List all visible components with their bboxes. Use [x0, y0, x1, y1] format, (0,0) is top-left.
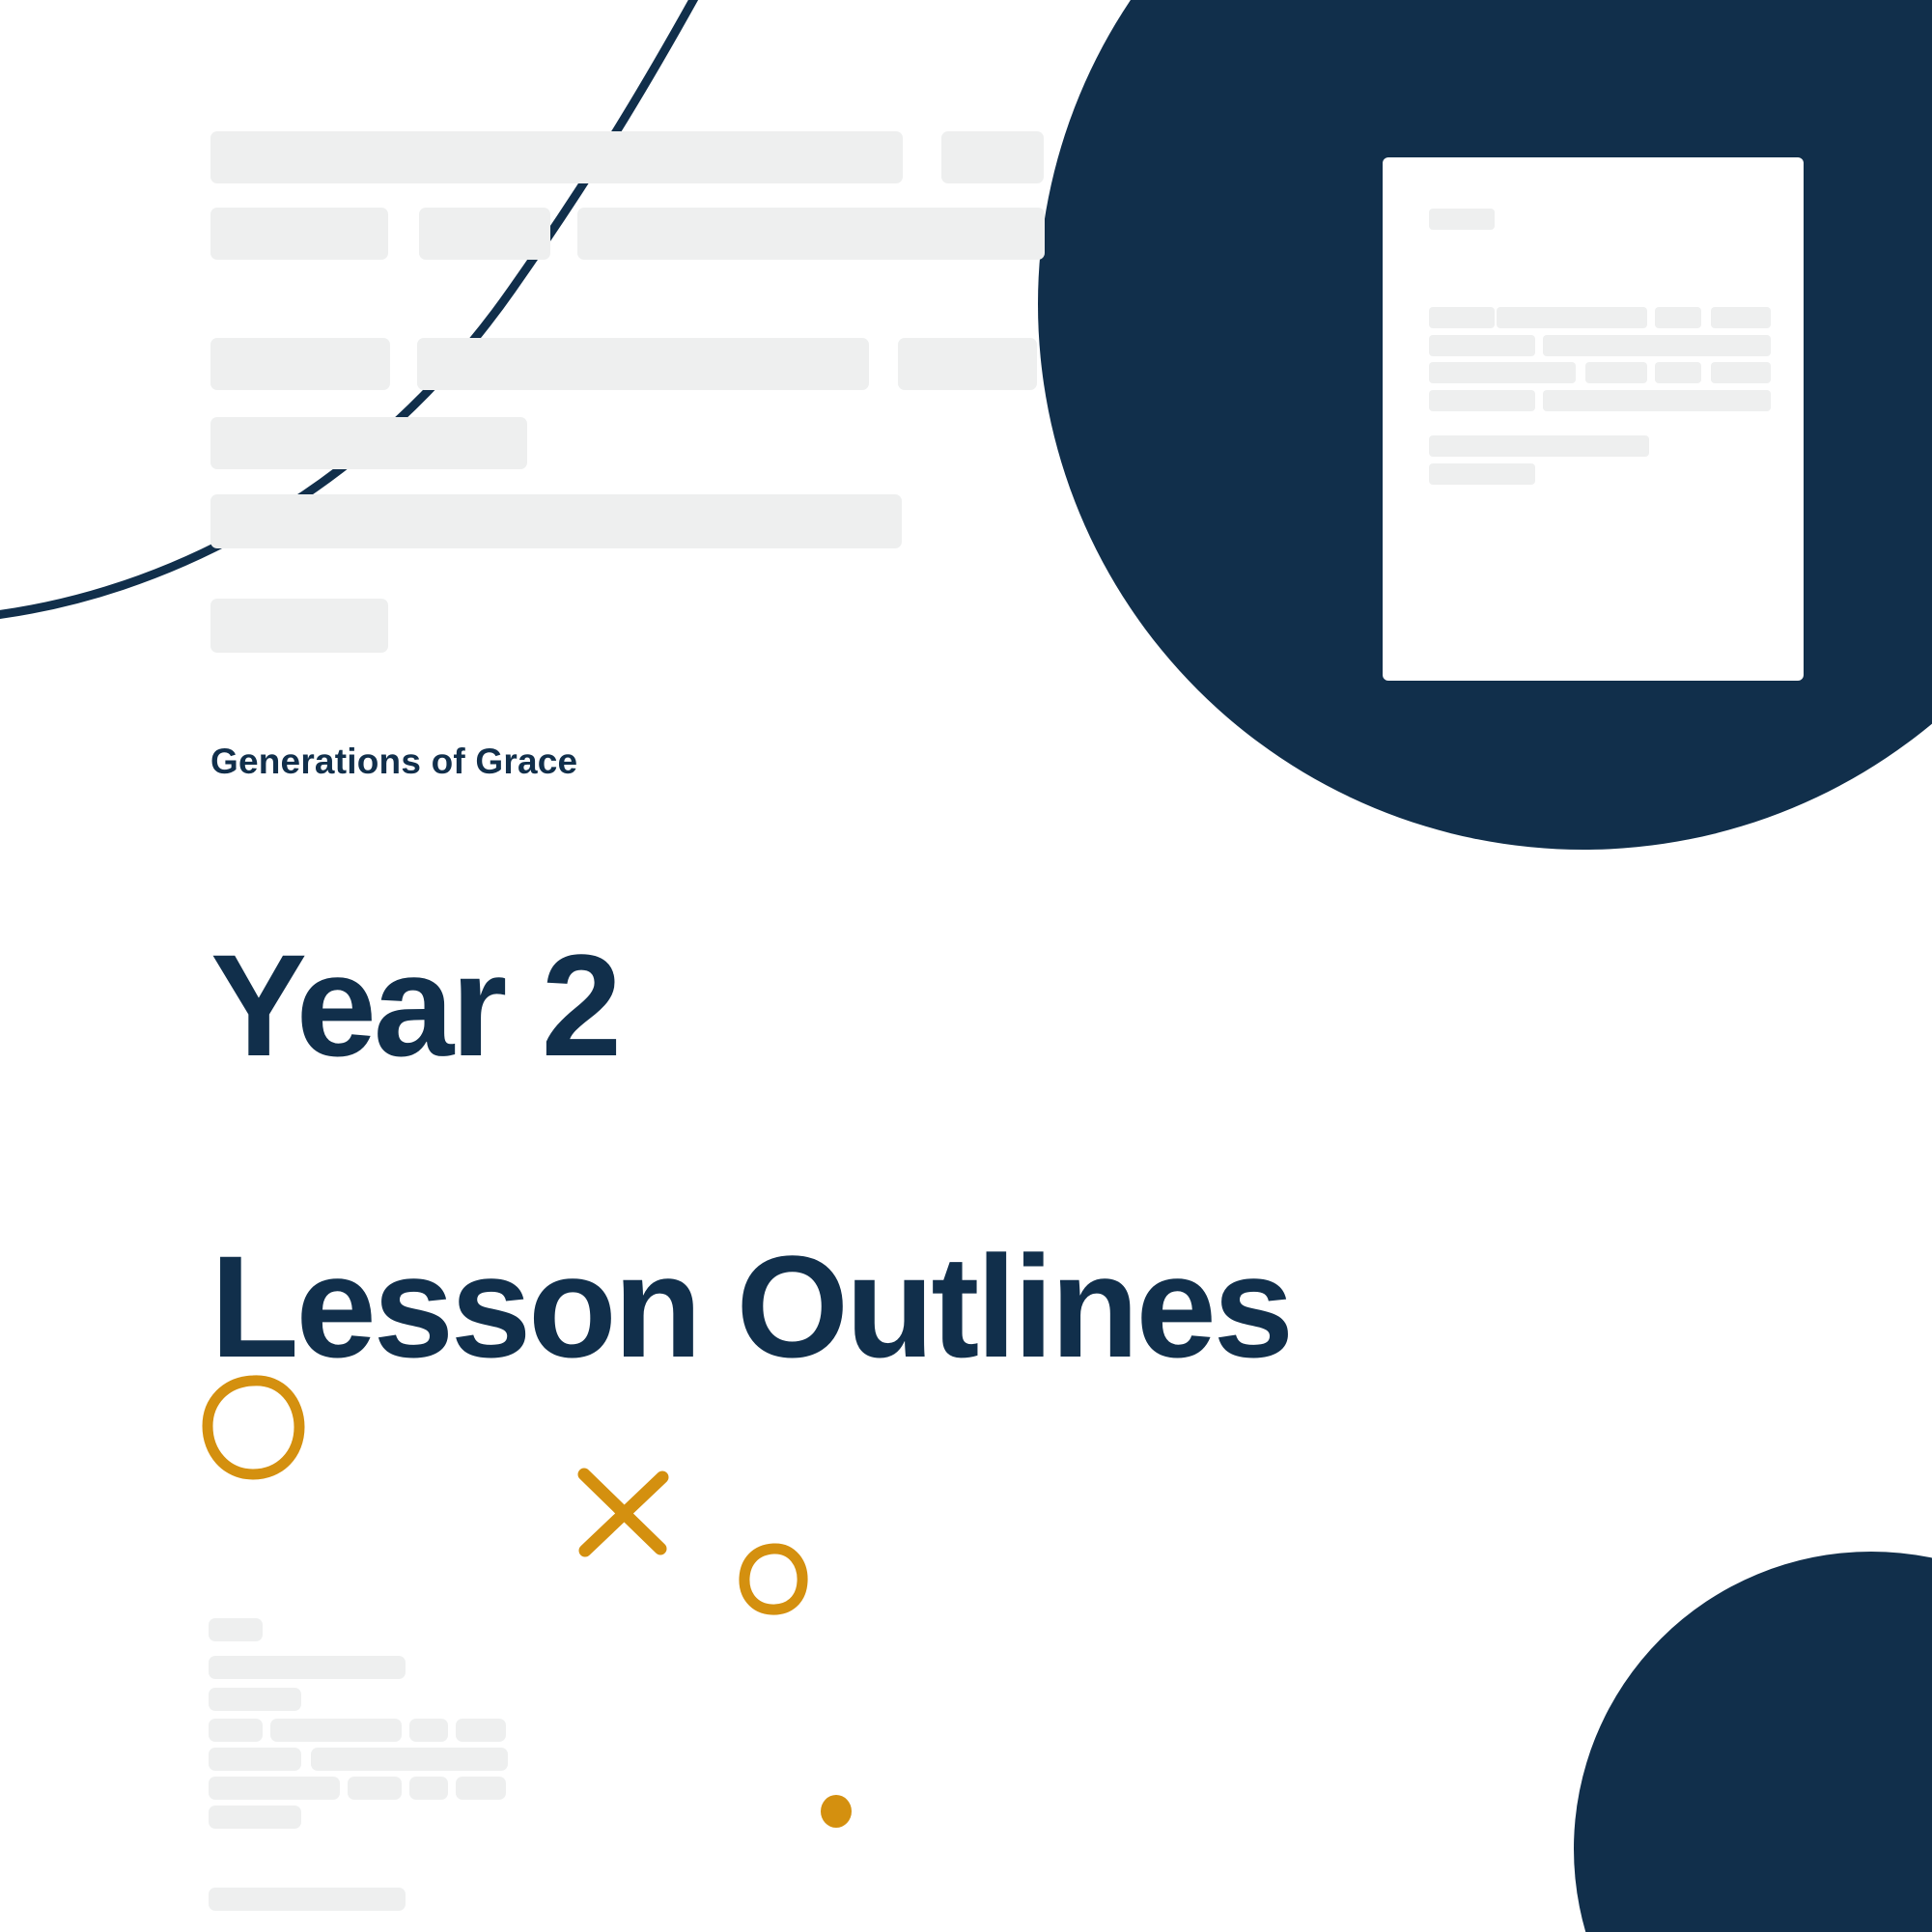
- skeleton-bar: [409, 1719, 448, 1742]
- cover-slide: Generations of Grace Year 2 Lesson Outli…: [0, 0, 1932, 1932]
- skeleton-bar: [409, 1777, 448, 1800]
- skeleton-bar: [311, 1748, 508, 1771]
- skeleton-bar: [348, 1777, 402, 1800]
- skeleton-bar: [209, 1777, 340, 1800]
- skeleton-bar: [209, 1688, 301, 1711]
- skeleton-bar: [209, 1748, 301, 1771]
- skeleton-bar: [209, 1888, 406, 1911]
- skeleton-bar: [456, 1777, 506, 1800]
- skeleton-bar: [270, 1719, 402, 1742]
- skeleton-bar: [209, 1656, 406, 1679]
- skeleton-bar: [209, 1719, 263, 1742]
- skeleton-bar: [209, 1806, 301, 1829]
- skeleton-bar: [209, 1618, 263, 1641]
- skeleton-bar: [456, 1719, 506, 1742]
- skeleton-text-block-bottom: [0, 0, 1932, 1932]
